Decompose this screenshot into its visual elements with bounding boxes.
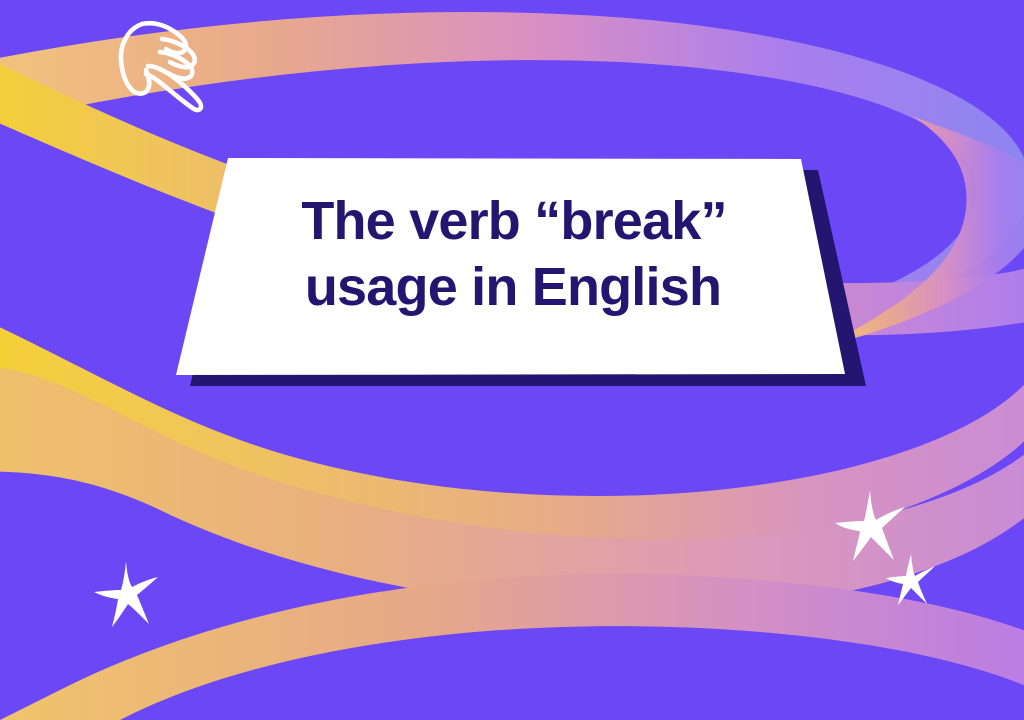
title-card-surface xyxy=(176,158,845,375)
star-left-icon xyxy=(92,558,162,628)
star-big-right-icon xyxy=(834,488,908,562)
hand-icon xyxy=(112,14,216,114)
poster-canvas: The verb “break” usage in English xyxy=(0,0,1024,720)
star-small-right-icon xyxy=(884,552,938,606)
